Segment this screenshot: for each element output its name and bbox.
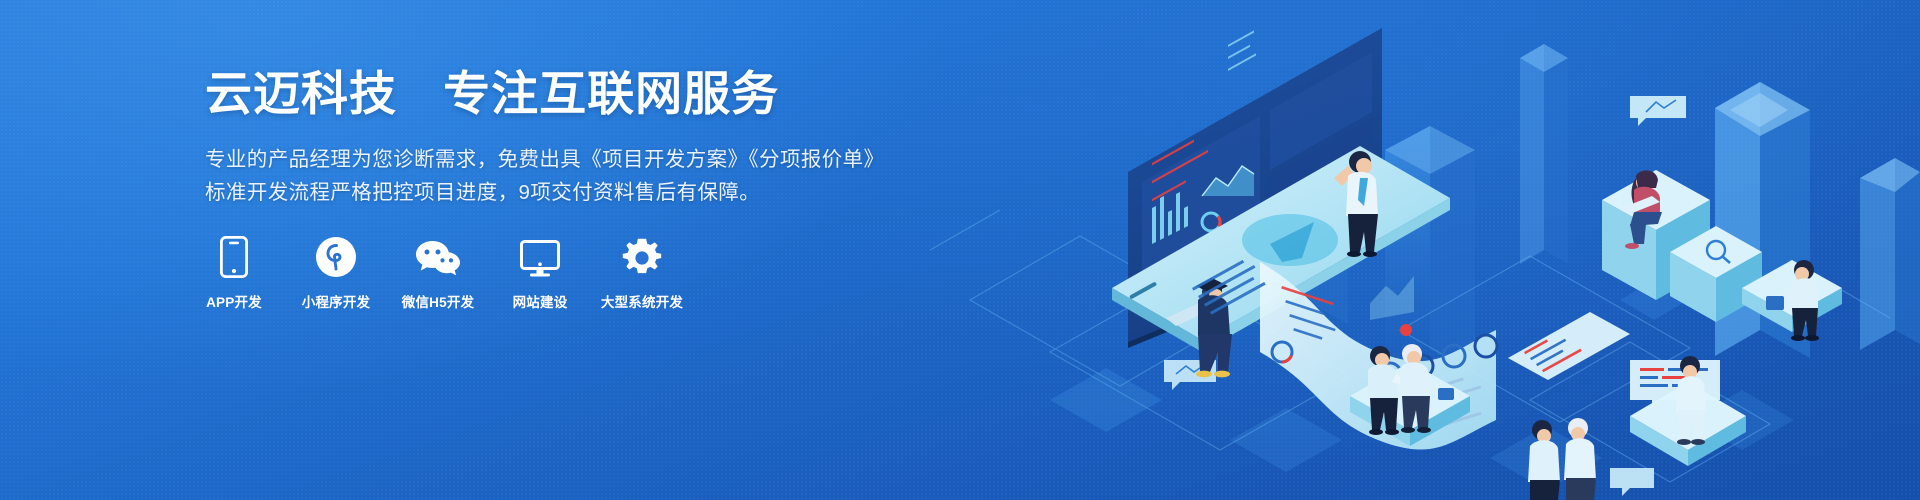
subtitle-line-2: 标准开发流程严格把控项目进度，9项交付资料售后有保障。 — [205, 176, 925, 209]
subtitle-line-1: 专业的产品经理为您诊断需求，免费出具《项目开发方案》《分项报价单》 — [205, 143, 925, 176]
gear-icon — [622, 232, 662, 278]
hero-copy: 云迈科技 专注互联网服务 专业的产品经理为您诊断需求，免费出具《项目开发方案》《… — [205, 66, 925, 209]
service-label: 大型系统开发 — [601, 291, 683, 311]
mobile-phone-icon — [220, 232, 248, 278]
headline-tagline: 专注互联网服务 — [443, 67, 779, 120]
service-label: 小程序开发 — [302, 291, 371, 311]
service-item-wechat-h5[interactable]: 微信H5开发 — [409, 232, 467, 311]
service-label: APP开发 — [206, 291, 262, 311]
monitor-icon — [520, 232, 560, 278]
code-snippet-card — [1508, 312, 1630, 380]
isometric-tech-teamwork-illustration — [930, 0, 1920, 500]
service-list: APP开发 小程序开发 — [205, 232, 671, 311]
service-item-large-system[interactable]: 大型系统开发 — [613, 232, 671, 311]
service-item-mini-program[interactable]: 小程序开发 — [307, 232, 365, 311]
mini-program-icon — [315, 232, 357, 278]
service-item-website[interactable]: 网站建设 — [511, 232, 569, 311]
headline-brand: 云迈科技 — [205, 67, 397, 120]
wechat-icon — [415, 232, 461, 278]
page-title: 云迈科技 专注互联网服务 — [205, 66, 925, 121]
service-label: 网站建设 — [513, 291, 568, 311]
hero-subtitle: 专业的产品经理为您诊断需求，免费出具《项目开发方案》《分项报价单》 标准开发流程… — [205, 143, 925, 209]
hero-banner: 云迈科技 专注互联网服务 专业的产品经理为您诊断需求，免费出具《项目开发方案》《… — [0, 0, 1920, 500]
service-item-app[interactable]: APP开发 — [205, 232, 263, 311]
service-label: 微信H5开发 — [402, 291, 474, 311]
